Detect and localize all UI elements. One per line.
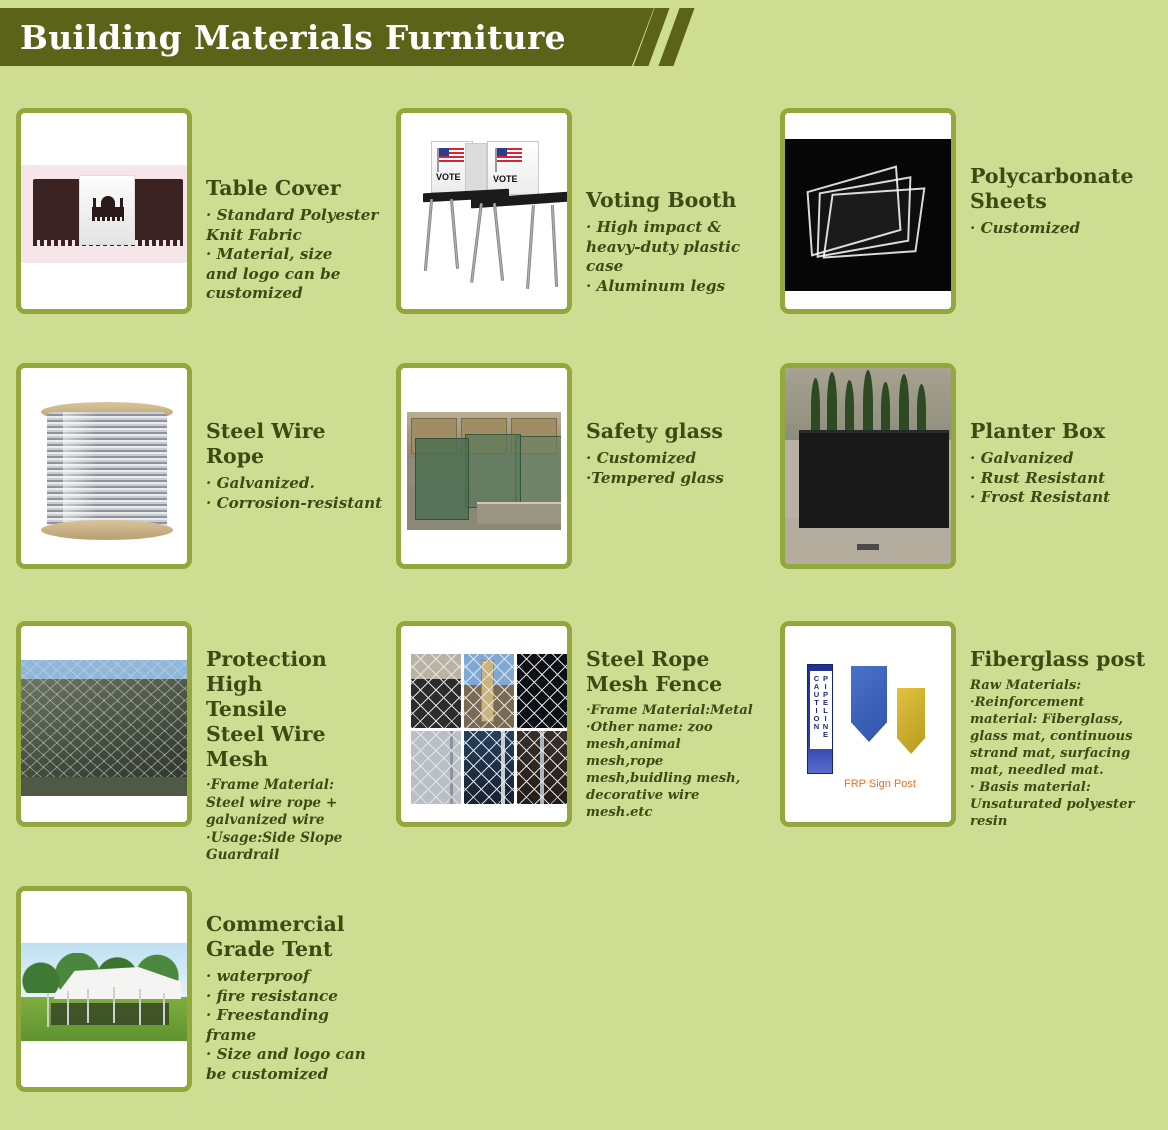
planter-box-photo [780, 363, 956, 569]
polycarbonate-sheets-photo [780, 108, 956, 314]
product-bullets: · Galvanized. · Corrosion-resistant [206, 474, 388, 513]
product-card-voting-booth[interactable]: VOTE VOTE [390, 108, 780, 363]
product-card-planter-box[interactable]: Planter Box · Galvanized · Rust Resistan… [780, 363, 1168, 621]
marker-label-pipeline: PIPELINE [822, 674, 829, 738]
empty-slot-2 [780, 886, 1168, 1116]
product-card-steel-wire-rope[interactable]: Steel Wire Rope · Galvanized. · Corrosio… [0, 363, 390, 621]
product-bullets: · Standard Polyester Knit Fabric · Mater… [206, 206, 388, 304]
product-title: Polycarbonate Sheets [970, 164, 1152, 214]
product-title: Steel Rope Mesh Fence [586, 647, 768, 697]
product-title: Steel Wire Rope [206, 419, 388, 469]
product-title: Protection High Tensile Steel Wire Mesh [206, 647, 388, 772]
empty-slot-1 [390, 886, 780, 1116]
product-bullets: · Galvanized · Rust Resistant · Frost Re… [970, 449, 1152, 508]
product-row-3: Protection High Tensile Steel Wire Mesh … [0, 621, 1168, 886]
product-card-table-cover[interactable]: Table Cover · Standard Polyester Knit Fa… [0, 108, 390, 363]
product-title: Voting Booth [586, 188, 768, 213]
protection-steel-wire-mesh-photo [16, 621, 192, 827]
product-card-fiberglass-post[interactable]: CAUTION PIPELINE FRP Sign Post Fiberglas… [780, 621, 1168, 886]
product-text-steel-wire-rope: Steel Wire Rope · Galvanized. · Corrosio… [192, 363, 388, 513]
product-text-table-cover: Table Cover · Standard Polyester Knit Fa… [192, 108, 388, 304]
product-text-fiberglass-post: Fiberglass post Raw Materials: ·Reinforc… [956, 621, 1152, 830]
product-text-protection-steel-wire-mesh: Protection High Tensile Steel Wire Mesh … [192, 621, 388, 865]
product-text-steel-rope-mesh-fence: Steel Rope Mesh Fence ·Frame Material:Me… [572, 621, 768, 821]
fiberglass-post-photo: CAUTION PIPELINE FRP Sign Post [780, 621, 956, 827]
frp-sign-post-caption: FRP Sign Post [825, 778, 935, 790]
header-bar: Building Materials Furniture [0, 8, 632, 66]
product-bullets: · High impact & heavy-duty plastic case … [586, 218, 768, 296]
product-title: Fiberglass post [970, 647, 1152, 672]
product-grid: Table Cover · Standard Polyester Knit Fa… [0, 108, 1168, 1116]
blue-frp-post [851, 666, 887, 742]
product-card-commercial-grade-tent[interactable]: Commercial Grade Tent · waterproof · fir… [0, 886, 390, 1116]
product-bullets: · waterproof · fire resistance · Freesta… [206, 967, 388, 1084]
product-title: Table Cover [206, 176, 388, 201]
product-card-steel-rope-mesh-fence[interactable]: Steel Rope Mesh Fence ·Frame Material:Me… [390, 621, 780, 886]
product-bullets: · Customized [970, 219, 1152, 239]
product-row-4: Commercial Grade Tent · waterproof · fir… [0, 886, 1168, 1116]
caution-pipeline-marker: CAUTION PIPELINE [807, 664, 833, 774]
product-text-polycarbonate-sheets: Polycarbonate Sheets · Customized [956, 108, 1152, 239]
product-card-protection-steel-wire-mesh[interactable]: Protection High Tensile Steel Wire Mesh … [0, 621, 390, 886]
yellow-frp-post [897, 688, 925, 754]
product-row-2: Steel Wire Rope · Galvanized. · Corrosio… [0, 363, 1168, 621]
product-bullets: ·Frame Material: Steel wire rope + galva… [206, 777, 388, 865]
marker-label-caution: CAUTION [813, 674, 820, 730]
product-title: Planter Box [970, 419, 1152, 444]
vote-label-2: VOTE [493, 174, 518, 184]
safety-glass-photo [396, 363, 572, 569]
table-cover-photo [16, 108, 192, 314]
product-bullets: Raw Materials: ·Reinforcement material: … [970, 677, 1152, 830]
header-banner: Building Materials Furniture [0, 8, 700, 66]
page-title: Building Materials Furniture [0, 18, 566, 57]
product-title: Commercial Grade Tent [206, 912, 388, 962]
product-card-safety-glass[interactable]: Safety glass · Customized ·Tempered glas… [390, 363, 780, 621]
product-row-1: Table Cover · Standard Polyester Knit Fa… [0, 108, 1168, 363]
product-bullets: ·Frame Material:Metal ·Other name: zoo m… [586, 702, 768, 821]
product-text-planter-box: Planter Box · Galvanized · Rust Resistan… [956, 363, 1152, 508]
product-text-safety-glass: Safety glass · Customized ·Tempered glas… [572, 363, 768, 488]
vote-label-1: VOTE [436, 172, 461, 182]
commercial-grade-tent-photo [16, 886, 192, 1092]
voting-booth-photo: VOTE VOTE [396, 108, 572, 314]
infographic-page: Building Materials Furniture [0, 0, 1168, 1130]
product-card-polycarbonate-sheets[interactable]: Polycarbonate Sheets · Customized [780, 108, 1168, 363]
steel-wire-rope-photo [16, 363, 192, 569]
steel-rope-mesh-fence-photo [396, 621, 572, 827]
product-bullets: · Customized ·Tempered glass [586, 449, 768, 488]
product-text-voting-booth: Voting Booth · High impact & heavy-duty … [572, 108, 768, 296]
product-text-commercial-grade-tent: Commercial Grade Tent · waterproof · fir… [192, 886, 388, 1084]
product-title: Safety glass [586, 419, 768, 444]
